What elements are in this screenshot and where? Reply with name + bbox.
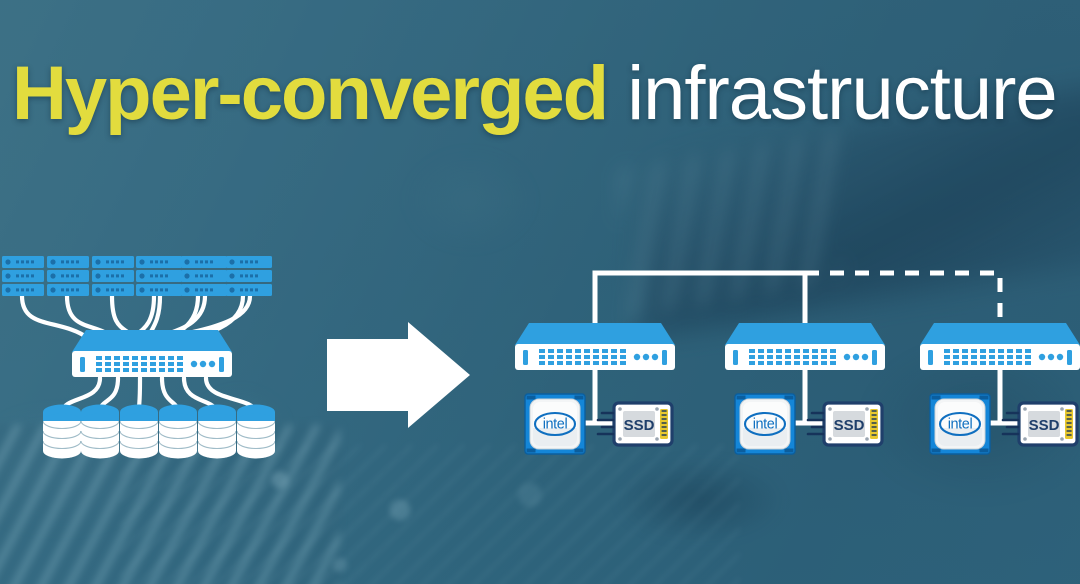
cluster-interconnect-dashed: [805, 273, 1000, 325]
storage-array: [43, 405, 275, 459]
database-cylinder: [198, 405, 236, 459]
server-rack: [181, 256, 223, 296]
server-rack: [92, 256, 134, 296]
node-2-server: [725, 323, 885, 370]
node-3-intel-cpu-icon: [930, 394, 990, 454]
server-rack: [136, 256, 178, 296]
rack-group-3-visible: [136, 256, 268, 296]
database-cylinder: [237, 405, 275, 459]
hero-banner: Hyper-converged infrastructure: [0, 0, 1080, 584]
hci-node-2: [725, 323, 885, 454]
cluster-interconnect-solid: [595, 273, 805, 325]
server-rack: [2, 256, 44, 296]
database-cylinder: [120, 405, 158, 459]
hci-node-1: [515, 323, 675, 454]
server-rack: [47, 256, 89, 296]
network-switch: [72, 330, 232, 377]
node-2-intel-cpu-icon: [735, 394, 795, 454]
infrastructure-diagram: intel SSD: [0, 0, 1080, 584]
database-cylinder: [159, 405, 197, 459]
database-cylinder: [43, 405, 81, 459]
rack-group-1: [2, 256, 134, 296]
right-diagram-hci: [515, 273, 1080, 454]
node-1-server: [515, 323, 675, 370]
database-cylinder: [81, 405, 119, 459]
left-diagram-traditional: [2, 256, 275, 459]
hci-node-3: [920, 323, 1080, 454]
node-3-server: [920, 323, 1080, 370]
node-1-intel-cpu-icon: [525, 394, 585, 454]
right-arrow-icon: [327, 322, 470, 428]
server-rack: [226, 256, 268, 296]
